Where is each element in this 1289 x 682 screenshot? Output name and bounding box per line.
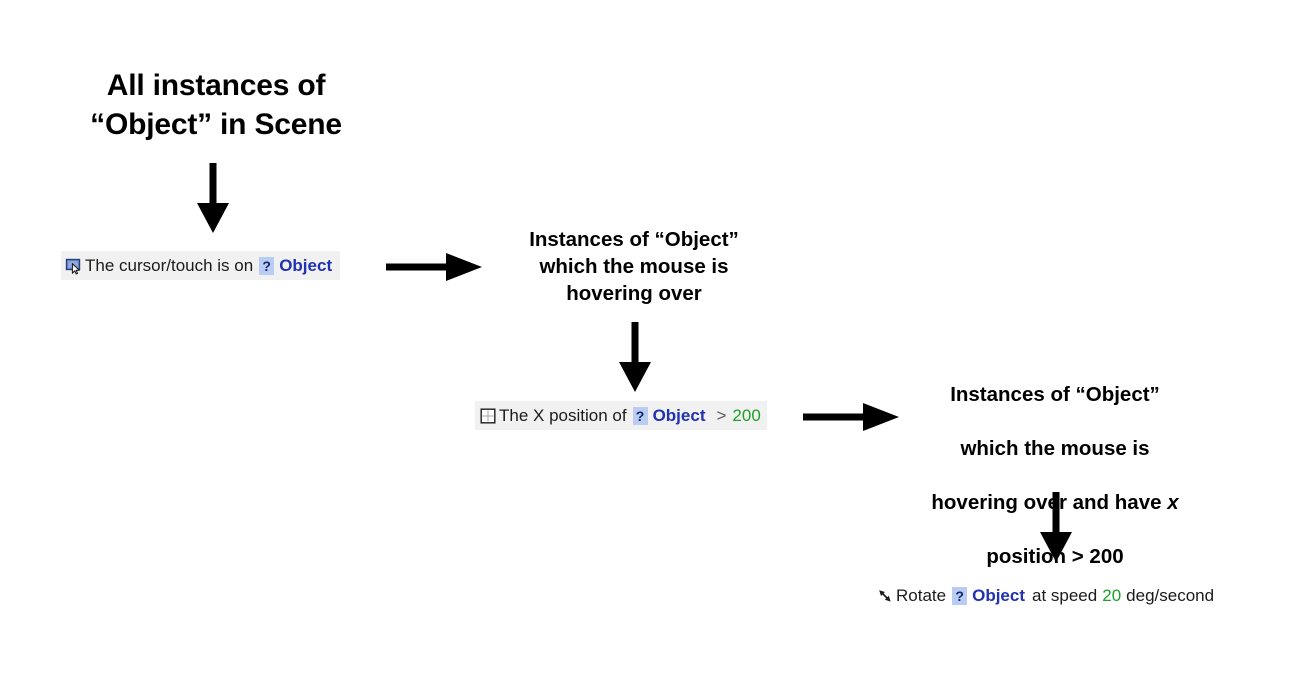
note-line-2: which the mouse is [960,437,1149,460]
arrow-down-note-hovering-x-to-rotate-block [1033,492,1079,562]
rotate-arrow-icon [876,587,894,605]
arrow-down-all-instances-to-cursor-block [190,163,236,233]
block-cursor-on-object[interactable]: The cursor/touch is on ? Object [61,251,340,280]
note-line-1: Instances of “Object” [950,383,1160,406]
arrow-right-cursor-block-to-note-hovering [386,250,482,284]
object-badge-question-icon: ? [952,587,967,605]
arrow-down-note-hovering-to-xpos-block [612,322,658,392]
comparison-value[interactable]: 200 [732,406,760,426]
speed-value[interactable]: 20 [1102,586,1121,606]
object-label: Object [653,406,706,426]
block-text-after: at speed [1032,586,1097,606]
object-chip[interactable]: ? Object [633,406,706,426]
object-badge-question-icon: ? [633,407,648,425]
coordinates-grid-icon [479,407,497,425]
speed-unit: deg/second [1126,586,1214,606]
cursor-on-object-icon [65,257,83,275]
object-badge-question-icon: ? [259,257,274,275]
block-text: The cursor/touch is on [85,256,253,276]
comparison-operator[interactable]: > [716,406,726,426]
block-text: The X position of [499,406,627,426]
object-chip[interactable]: ? Object [259,256,332,276]
object-chip[interactable]: ? Object [952,586,1025,606]
block-x-position-of-object[interactable]: The X position of ? Object > 200 [475,401,767,430]
block-rotate-object[interactable]: Rotate ? Object at speed 20 deg/second [872,581,1220,610]
note-all-instances-of-object: All instances of “Object” in Scene [46,66,386,144]
block-text: Rotate [896,586,946,606]
note-line-3-italic-x: x [1167,491,1178,514]
arrow-right-xpos-block-to-note-hovering-x [803,400,899,434]
note-instances-hovering: Instances of “Object” which the mouse is… [503,226,765,307]
object-label: Object [972,586,1025,606]
object-label: Object [279,256,332,276]
